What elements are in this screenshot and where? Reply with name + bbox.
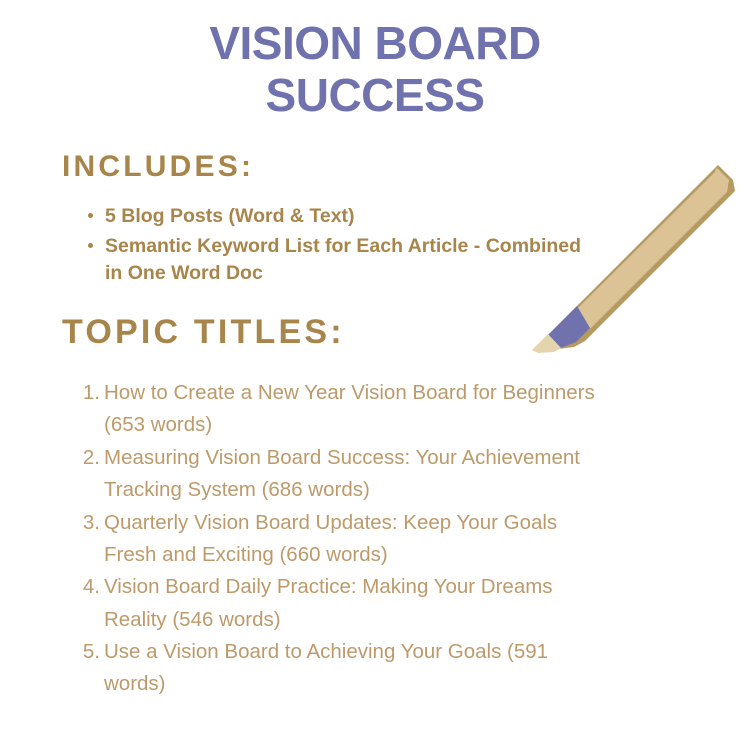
page-title-line-2: SUCCESS [0,70,750,122]
page-title: VISION BOARD SUCCESS [0,18,750,121]
topic-item-text: Vision Board Daily Practice: Making Your… [104,575,553,630]
topic-item-text: How to Create a New Year Vision Board fo… [104,381,595,436]
topic-item-number: 2. [78,442,100,474]
list-item: 4. Vision Board Daily Practice: Making Y… [78,571,598,636]
pencil-end-cut [713,168,729,193]
topic-item-number: 3. [78,507,100,539]
includes-item-text: 5 Blog Posts (Word & Text) [105,205,355,227]
topic-titles-list: 1. How to Create a New Year Vision Board… [78,377,598,701]
bullet-dot-icon [88,213,93,218]
includes-heading: INCLUDES: [62,150,254,184]
list-item: Semantic Keyword List for Each Article -… [88,233,598,288]
poster-canvas: VISION BOARD SUCCESS INCLUDES: 5 Blog Po… [0,0,750,750]
bullet-dot-icon [88,243,93,248]
topic-item-number: 5. [78,636,100,668]
list-item: 2. Measuring Vision Board Success: Your … [78,442,598,507]
topic-item-text: Quarterly Vision Board Updates: Keep You… [104,511,557,566]
pencil-tip-point [532,334,561,353]
list-item: 5 Blog Posts (Word & Text) [88,203,598,231]
topic-item-number: 4. [78,571,100,603]
includes-item-text: Semantic Keyword List for Each Article -… [105,235,581,285]
pencil-lead [545,306,590,349]
list-item: 1. How to Create a New Year Vision Board… [78,377,598,442]
includes-list: 5 Blog Posts (Word & Text) Semantic Keyw… [88,203,598,290]
list-item: 5. Use a Vision Board to Achieving Your … [78,636,598,701]
topic-item-text: Use a Vision Board to Achieving Your Goa… [104,640,548,695]
topic-item-number: 1. [78,377,100,409]
topic-titles-heading: TOPIC TITLES: [62,313,345,352]
topic-item-text: Measuring Vision Board Success: Your Ach… [104,446,580,501]
page-title-line-1: VISION BOARD [0,18,750,70]
list-item: 3. Quarterly Vision Board Updates: Keep … [78,507,598,572]
